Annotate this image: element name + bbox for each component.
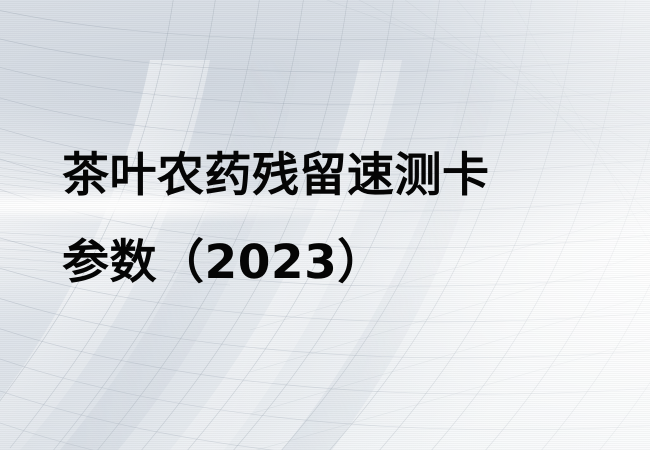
- page-title: 茶叶农药残留速测卡 参数（2023）: [62, 132, 582, 306]
- title-line-primary: 茶叶农药残留速测卡: [62, 132, 582, 219]
- title-line-secondary: 参数（2023）: [62, 219, 582, 306]
- title-banner: 茶叶农药残留速测卡 参数（2023）: [0, 0, 650, 450]
